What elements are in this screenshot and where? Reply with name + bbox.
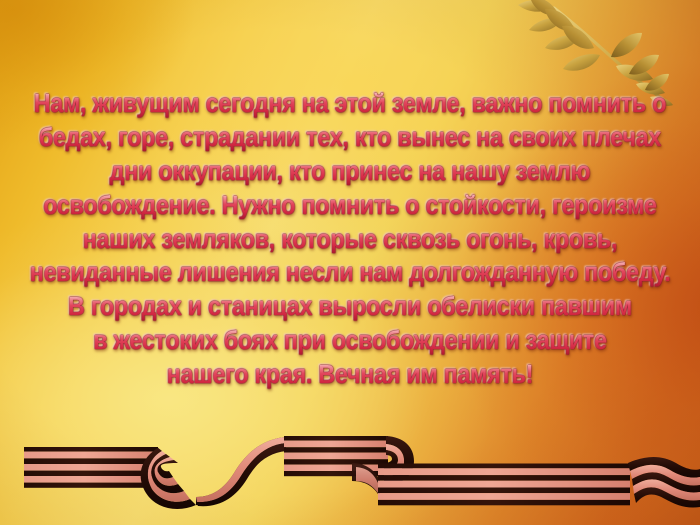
text-line: в жестоких боях при освобождении и защит… (30, 329, 671, 355)
text-line: дни оккупации, кто принес на нашу землю (30, 160, 671, 186)
memorial-text-block: Нам, живущим сегодня на этой земле, важн… (0, 92, 700, 389)
text-line: В городах и станицах выросли обелиски па… (30, 295, 671, 321)
text-line: наших земляков, которые сквозь огонь, кр… (30, 228, 671, 254)
text-line: освобождение. Нужно помнить о стойкости,… (30, 194, 671, 220)
text-line: невиданные лишения несли нам долгожданну… (30, 261, 671, 287)
text-line: нашего края. Вечная им память! (30, 363, 671, 389)
text-line: Нам, живущим сегодня на этой земле, важн… (30, 92, 671, 118)
memorial-slide: Нам, живущим сегодня на этой земле, важн… (0, 0, 700, 525)
text-line: бедах, горе, страдании тех, кто вынес на… (30, 126, 671, 152)
